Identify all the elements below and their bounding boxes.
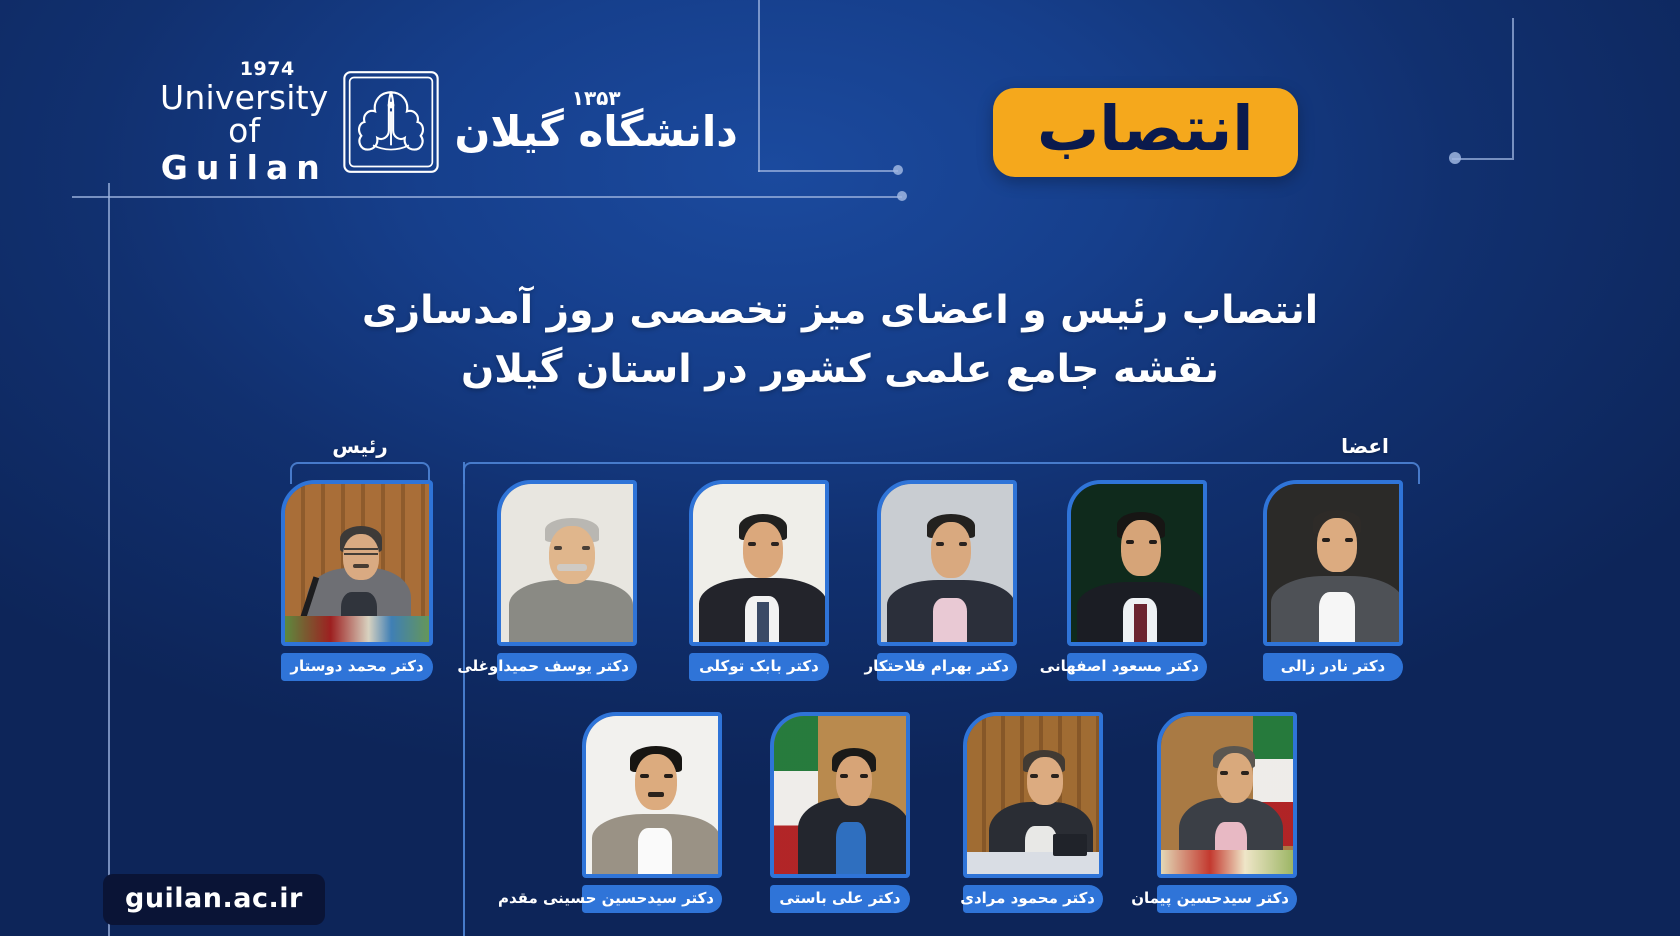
chair-name: دکتر محمد دوستار bbox=[281, 653, 433, 681]
decor-line-horizontal-lower bbox=[72, 196, 902, 198]
portrait-scene bbox=[967, 716, 1099, 874]
members-spine bbox=[463, 462, 465, 936]
poster-canvas: 1974 University of Guilan ۱۳۵۳ دانشگاه گ… bbox=[0, 0, 1680, 936]
announcement-badge-label: انتصاب bbox=[1037, 100, 1254, 159]
logo-name-fa: دانشگاه گیلان bbox=[454, 106, 737, 159]
member-name: دکتر یوسف حمیداوغلی bbox=[497, 653, 637, 681]
member-name: دکتر بابک توکلی bbox=[689, 653, 829, 681]
member-photo bbox=[497, 480, 637, 646]
decor-line-horizontal-right bbox=[1452, 158, 1514, 160]
portrait-scene bbox=[501, 484, 633, 642]
portrait-scene bbox=[693, 484, 825, 642]
announcement-badge: انتصاب bbox=[993, 88, 1298, 177]
member-card[interactable]: دکتر مسعود اصفهانی bbox=[1067, 480, 1207, 681]
section-label-chair: رئیس bbox=[300, 434, 420, 458]
face-shape bbox=[343, 534, 379, 580]
portrait-scene bbox=[774, 716, 906, 874]
member-card[interactable]: دکتر سیدحسین حسینی مقدم bbox=[582, 712, 722, 913]
member-name: دکتر سیدحسین پیمان bbox=[1157, 885, 1297, 913]
member-card[interactable]: دکتر بابک توکلی bbox=[689, 480, 829, 681]
decor-line-vertical-right bbox=[1512, 18, 1514, 158]
website-url-text: guilan.ac.ir bbox=[125, 883, 303, 914]
portrait-scene bbox=[1267, 484, 1399, 642]
logo-founding-year-en: 1974 bbox=[206, 60, 328, 79]
page-title-line-1: انتصاب رئیس و اعضای میز تخصصی روز آمدساز… bbox=[0, 282, 1680, 341]
portrait-scene bbox=[586, 716, 718, 874]
chair-photo bbox=[281, 480, 433, 646]
member-photo bbox=[582, 712, 722, 878]
member-photo bbox=[1263, 480, 1403, 646]
member-card[interactable]: دکتر محمود مرادی bbox=[963, 712, 1103, 913]
portrait-scene bbox=[881, 484, 1013, 642]
portrait-scene bbox=[285, 484, 429, 642]
logo-english-text: 1974 University of Guilan bbox=[160, 60, 328, 184]
university-logo: 1974 University of Guilan ۱۳۵۳ دانشگاه گ… bbox=[160, 62, 720, 182]
logo-persian-text: ۱۳۵۳ دانشگاه گیلان bbox=[454, 86, 737, 159]
member-name: دکتر بهرام فلاحتکار bbox=[877, 653, 1017, 681]
portrait-scene bbox=[1161, 716, 1293, 874]
member-name: دکتر محمود مرادی bbox=[963, 885, 1103, 913]
member-name: دکتر علی باستی bbox=[770, 885, 910, 913]
guilan-university-emblem-icon bbox=[338, 69, 444, 175]
decor-line-horizontal-upper bbox=[758, 170, 898, 172]
member-photo bbox=[877, 480, 1017, 646]
page-title-line-2: نقشه جامع علمی کشور در استان گیلان bbox=[0, 341, 1680, 400]
section-label-members: اعضا bbox=[1310, 434, 1420, 458]
chair-card[interactable]: دکتر محمد دوستار bbox=[281, 480, 433, 681]
member-photo bbox=[689, 480, 829, 646]
member-card[interactable]: دکتر نادر زالی bbox=[1263, 480, 1403, 681]
member-name: دکتر سیدحسین حسینی مقدم bbox=[582, 885, 722, 913]
decor-dot-lower bbox=[897, 191, 907, 201]
page-title: انتصاب رئیس و اعضای میز تخصصی روز آمدساز… bbox=[0, 282, 1680, 399]
logo-name-en: Guilan bbox=[160, 151, 328, 184]
member-photo bbox=[963, 712, 1103, 878]
decor-dot-upper bbox=[893, 165, 903, 175]
decor-line-vertical-top-center bbox=[758, 0, 760, 172]
member-photo bbox=[1067, 480, 1207, 646]
member-card[interactable]: دکتر بهرام فلاحتکار bbox=[877, 480, 1017, 681]
portrait-scene bbox=[1071, 484, 1203, 642]
member-card[interactable]: دکتر علی باستی bbox=[770, 712, 910, 913]
member-card[interactable]: دکتر سیدحسین پیمان bbox=[1157, 712, 1297, 913]
member-name: دکتر مسعود اصفهانی bbox=[1067, 653, 1207, 681]
decor-dot-right bbox=[1449, 152, 1461, 164]
logo-university-word: University of bbox=[160, 81, 328, 147]
member-photo bbox=[1157, 712, 1297, 878]
website-url-chip[interactable]: guilan.ac.ir bbox=[103, 874, 325, 925]
member-photo bbox=[770, 712, 910, 878]
member-card[interactable]: دکتر یوسف حمیداوغلی bbox=[497, 480, 637, 681]
member-name: دکتر نادر زالی bbox=[1263, 653, 1403, 681]
